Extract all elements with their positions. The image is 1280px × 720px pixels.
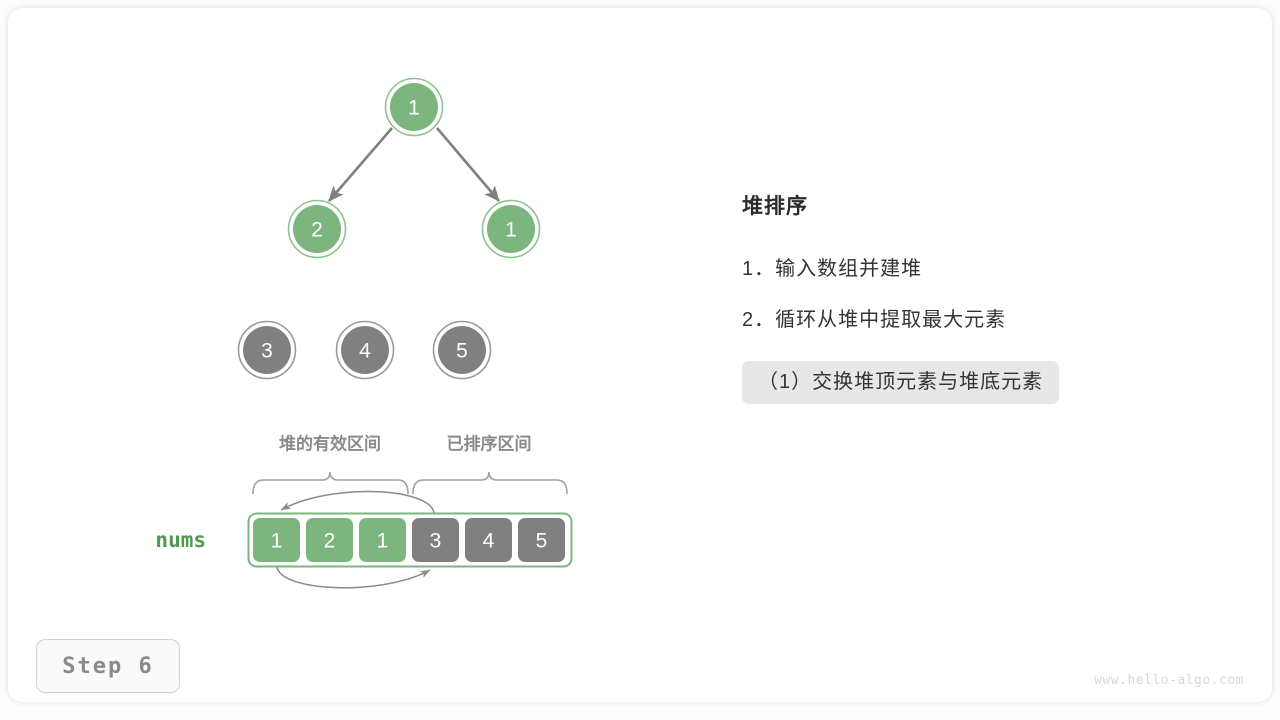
swap-arc-bottom — [277, 567, 430, 588]
tree-node-3[interactable]: 3 — [239, 322, 296, 379]
tree-node-2-label: 1 — [505, 219, 517, 242]
tree-node-1-label: 2 — [311, 219, 323, 242]
array-cell-0-label: 1 — [271, 530, 283, 553]
tree-node-5-label: 5 — [456, 340, 468, 363]
step-badge: Step 6 — [36, 639, 180, 693]
array-cell-2-label: 1 — [377, 530, 389, 553]
array-cell-5-label: 5 — [536, 530, 548, 553]
array-cell-1-label: 2 — [324, 530, 336, 553]
tree-node-1[interactable]: 2 — [289, 201, 346, 258]
array-container: 1 2 1 3 4 5 — [249, 514, 572, 567]
tree-node-4[interactable]: 4 — [337, 322, 394, 379]
range-brace-heap: 堆的有效区间 — [253, 434, 408, 495]
array-cell-1[interactable]: 2 — [306, 518, 353, 562]
explanation-panel: 堆排序 1．输入数组并建堆 2．循环从堆中提取最大元素 （1）交换堆顶元素与堆底… — [742, 196, 1222, 404]
substep-highlight: （1）交换堆顶元素与堆底元素 — [742, 361, 1059, 404]
watermark: www.hello-algo.com — [1094, 673, 1244, 688]
array-cell-4[interactable]: 4 — [465, 518, 512, 562]
range-label-sorted: 已排序区间 — [447, 434, 532, 454]
array-cell-3-label: 3 — [430, 530, 442, 553]
tree-edge-0-2 — [437, 128, 499, 201]
array-cell-5[interactable]: 5 — [518, 518, 565, 562]
range-brace-sorted: 已排序区间 — [413, 434, 567, 495]
swap-arrows — [277, 492, 434, 588]
range-label-heap: 堆的有效区间 — [279, 434, 381, 454]
figure-canvas: 1 2 1 3 4 5 堆的有效 — [0, 0, 1280, 720]
swap-arc-top — [281, 492, 434, 513]
tree-edge-0-1 — [329, 128, 392, 201]
array-cell-0[interactable]: 1 — [253, 518, 300, 562]
tree-node-0[interactable]: 1 — [386, 79, 443, 136]
array-name-label: nums — [155, 528, 206, 552]
panel-title: 堆排序 — [742, 196, 1222, 217]
array-cell-2[interactable]: 1 — [359, 518, 406, 562]
array-cell-4-label: 4 — [483, 530, 495, 553]
tree-node-2[interactable]: 1 — [483, 201, 540, 258]
tree-node-4-label: 4 — [359, 340, 371, 363]
tree-node-0-label: 1 — [408, 97, 420, 120]
array-cell-3[interactable]: 3 — [412, 518, 459, 562]
step-item-1: 1．输入数组并建堆 — [742, 259, 1222, 279]
tree-node-5[interactable]: 5 — [434, 322, 491, 379]
tree-node-3-label: 3 — [261, 340, 273, 363]
step-item-2: 2．循环从堆中提取最大元素 — [742, 310, 1222, 330]
tree-edges — [329, 128, 499, 201]
